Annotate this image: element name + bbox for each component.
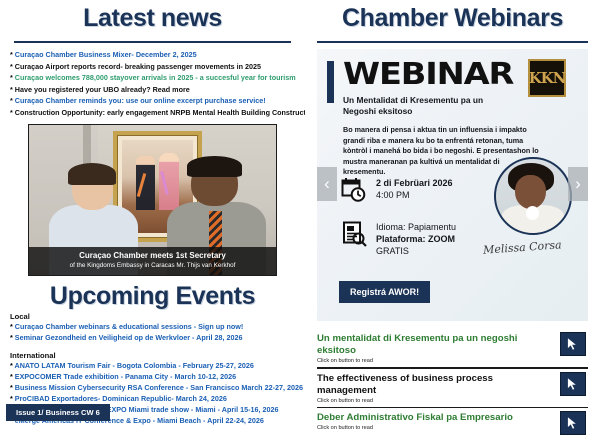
- events-spacer: [6, 343, 299, 350]
- kkn-logo: KKN: [528, 59, 566, 97]
- speaker-scarf: [526, 206, 539, 219]
- speaker-avatar: [494, 157, 572, 235]
- webinar-time: 4:00 PM: [376, 189, 453, 201]
- international-event-item[interactable]: * ProCIBAD Exportadores- Dominican Repub…: [10, 393, 299, 404]
- international-event-item-label[interactable]: ANATO LATAM Tourism Fair - Bogota Colomb…: [15, 361, 254, 370]
- local-event-item-label[interactable]: Seminar Gezondheid en Veiligheid op de W…: [15, 333, 243, 342]
- person-right-hair: [187, 156, 242, 177]
- local-event-item[interactable]: * Seminar Gezondheid en Veiligheid op de…: [10, 332, 299, 343]
- photo-caption-line1: Curaçao Chamber meets 1st Secretary: [31, 251, 274, 261]
- latest-news-divider: [14, 41, 291, 43]
- webinar-list-item-title[interactable]: The effectiveness of business process ma…: [317, 373, 588, 397]
- register-button[interactable]: Registrá AWOR!: [339, 281, 430, 303]
- news-item[interactable]: * Curaçao Airport reports record- breaki…: [10, 61, 299, 73]
- webinar-list-item-subtitle: Click on button to read: [317, 425, 588, 431]
- webinar-wordmark: WEBINAR: [343, 57, 513, 92]
- chamber-webinars-heading: Chamber Webinars: [309, 0, 596, 33]
- upcoming-events-heading: Upcoming Events: [6, 282, 299, 311]
- webinar-date: 2 di Febrüari 2026: [376, 177, 453, 189]
- person-left-hair: [68, 163, 116, 185]
- webinar-list-item-title[interactable]: Un mentalidat di Kresementu pa un negosh…: [317, 333, 588, 357]
- international-event-item-label[interactable]: EXPOCOMER Trade exhibition - Panama City…: [15, 372, 236, 381]
- read-button[interactable]: [560, 372, 586, 396]
- international-event-item[interactable]: * ANATO LATAM Tourism Fair - Bogota Colo…: [10, 360, 299, 371]
- local-event-item[interactable]: * Curaçao Chamber webinars & educational…: [10, 321, 299, 332]
- latest-news-list: * Curaçao Chamber Business Mixer- Decemb…: [6, 49, 299, 119]
- read-button[interactable]: [560, 332, 586, 356]
- international-events-label: International: [6, 351, 299, 360]
- local-events-list: * Curaçao Chamber webinars & educational…: [6, 321, 299, 343]
- webinar-list-item[interactable]: Un mentalidat di Kresementu pa un negosh…: [317, 329, 588, 367]
- carousel-prev-icon[interactable]: ‹: [317, 167, 337, 201]
- news-item[interactable]: * Curaçao Chamber reminds you: use our o…: [10, 95, 299, 107]
- webinar-list-item-title[interactable]: Deber Administrativo Fiskal pa Empresari…: [317, 412, 588, 424]
- webinar-accent-bar: [327, 61, 334, 103]
- international-event-item[interactable]: * EXPOCOMER Trade exhibition - Panama Ci…: [10, 371, 299, 382]
- webinar-list-item-subtitle: Click on button to read: [317, 398, 588, 404]
- local-events-label: Local: [6, 312, 299, 321]
- webinar-price: GRATIS: [376, 245, 456, 257]
- news-item[interactable]: * Have you registered your UBO already? …: [10, 84, 299, 96]
- webinar-carousel-slide: WEBINAR Un Mentalidat di Kresementu pa u…: [317, 49, 588, 321]
- webinar-subtitle: Un Mentalidat di Kresementu pa un Negosh…: [343, 95, 493, 117]
- cursor-pointer-icon: [565, 336, 581, 352]
- kkn-logo-text: KKN: [529, 69, 566, 87]
- right-column: Chamber Webinars WEBINAR Un Mentalidat d…: [305, 0, 600, 424]
- international-event-item-label[interactable]: Business Mission Cybersecurity RSA Confe…: [15, 383, 303, 392]
- left-column: Latest news * Curaçao Chamber Business M…: [0, 0, 305, 424]
- webinar-list-item[interactable]: Deber Administrativo Fiskal pa Empresari…: [317, 408, 588, 440]
- calendar-clock-icon: [341, 177, 367, 203]
- document-search-icon: [341, 221, 367, 247]
- newsletter-page: Latest news * Curaçao Chamber Business M…: [0, 0, 600, 424]
- webinar-details-row: Idioma: Papiamentu Plataforma: ZOOM GRAT…: [341, 221, 456, 257]
- international-event-item[interactable]: * Business Mission Cybersecurity RSA Con…: [10, 382, 299, 393]
- news-item-label[interactable]: Curaçao Airport reports record- breaking…: [15, 62, 261, 71]
- cursor-pointer-icon: [565, 415, 581, 431]
- photo-caption-line2: of the Kingdoms Embassy in Caracas Mr. T…: [31, 261, 274, 270]
- webinar-platform: Plataforma: ZOOM: [376, 233, 456, 245]
- royal-figure-king: [136, 156, 154, 210]
- news-item-label[interactable]: Construction Opportunity: early engageme…: [15, 108, 317, 117]
- webinar-datetime: 2 di Febrüari 2026 4:00 PM: [376, 177, 453, 201]
- news-item[interactable]: * Construction Opportunity: early engage…: [10, 107, 299, 119]
- latest-news-heading: Latest news: [6, 0, 299, 33]
- webinar-date-row: 2 di Febrüari 2026 4:00 PM: [341, 177, 453, 203]
- chamber-webinars-divider: [317, 41, 588, 43]
- news-item-label[interactable]: Curaçao Chamber Business Mixer- December…: [15, 50, 197, 59]
- local-event-item-label[interactable]: Curaçao Chamber webinars & educational s…: [15, 322, 243, 331]
- webinar-details: Idioma: Papiamentu Plataforma: ZOOM GRAT…: [376, 221, 456, 257]
- news-item-label[interactable]: Curaçao Chamber reminds you: use our onl…: [15, 96, 266, 105]
- webinar-language: Idioma: Papiamentu: [376, 221, 456, 233]
- webinar-links-list: Un mentalidat di Kresementu pa un negosh…: [317, 329, 588, 440]
- carousel-next-icon[interactable]: ›: [568, 167, 588, 201]
- issue-badge: Issue 1/ Business CW 6: [6, 404, 110, 421]
- news-item[interactable]: * Curaçao Chamber Business Mixer- Decemb…: [10, 49, 299, 61]
- webinar-list-item-subtitle: Click on button to read: [317, 358, 588, 364]
- news-item-label[interactable]: Have you registered your UBO already? Re…: [15, 85, 190, 94]
- photo-caption: Curaçao Chamber meets 1st Secretary of t…: [29, 247, 276, 275]
- speaker-signature: Melissa Corsa: [483, 238, 562, 256]
- international-event-item-label[interactable]: ProCIBAD Exportadores- Dominican Republi…: [15, 394, 227, 403]
- cursor-pointer-icon: [565, 376, 581, 392]
- news-item-label[interactable]: Curaçao welcomes 788,000 stayover arriva…: [15, 73, 296, 82]
- webinar-list-item[interactable]: The effectiveness of business process ma…: [317, 369, 588, 407]
- read-button[interactable]: [560, 411, 586, 435]
- news-item[interactable]: * Curaçao welcomes 788,000 stayover arri…: [10, 72, 299, 84]
- news-photo: Curaçao Chamber meets 1st Secretary of t…: [28, 124, 277, 276]
